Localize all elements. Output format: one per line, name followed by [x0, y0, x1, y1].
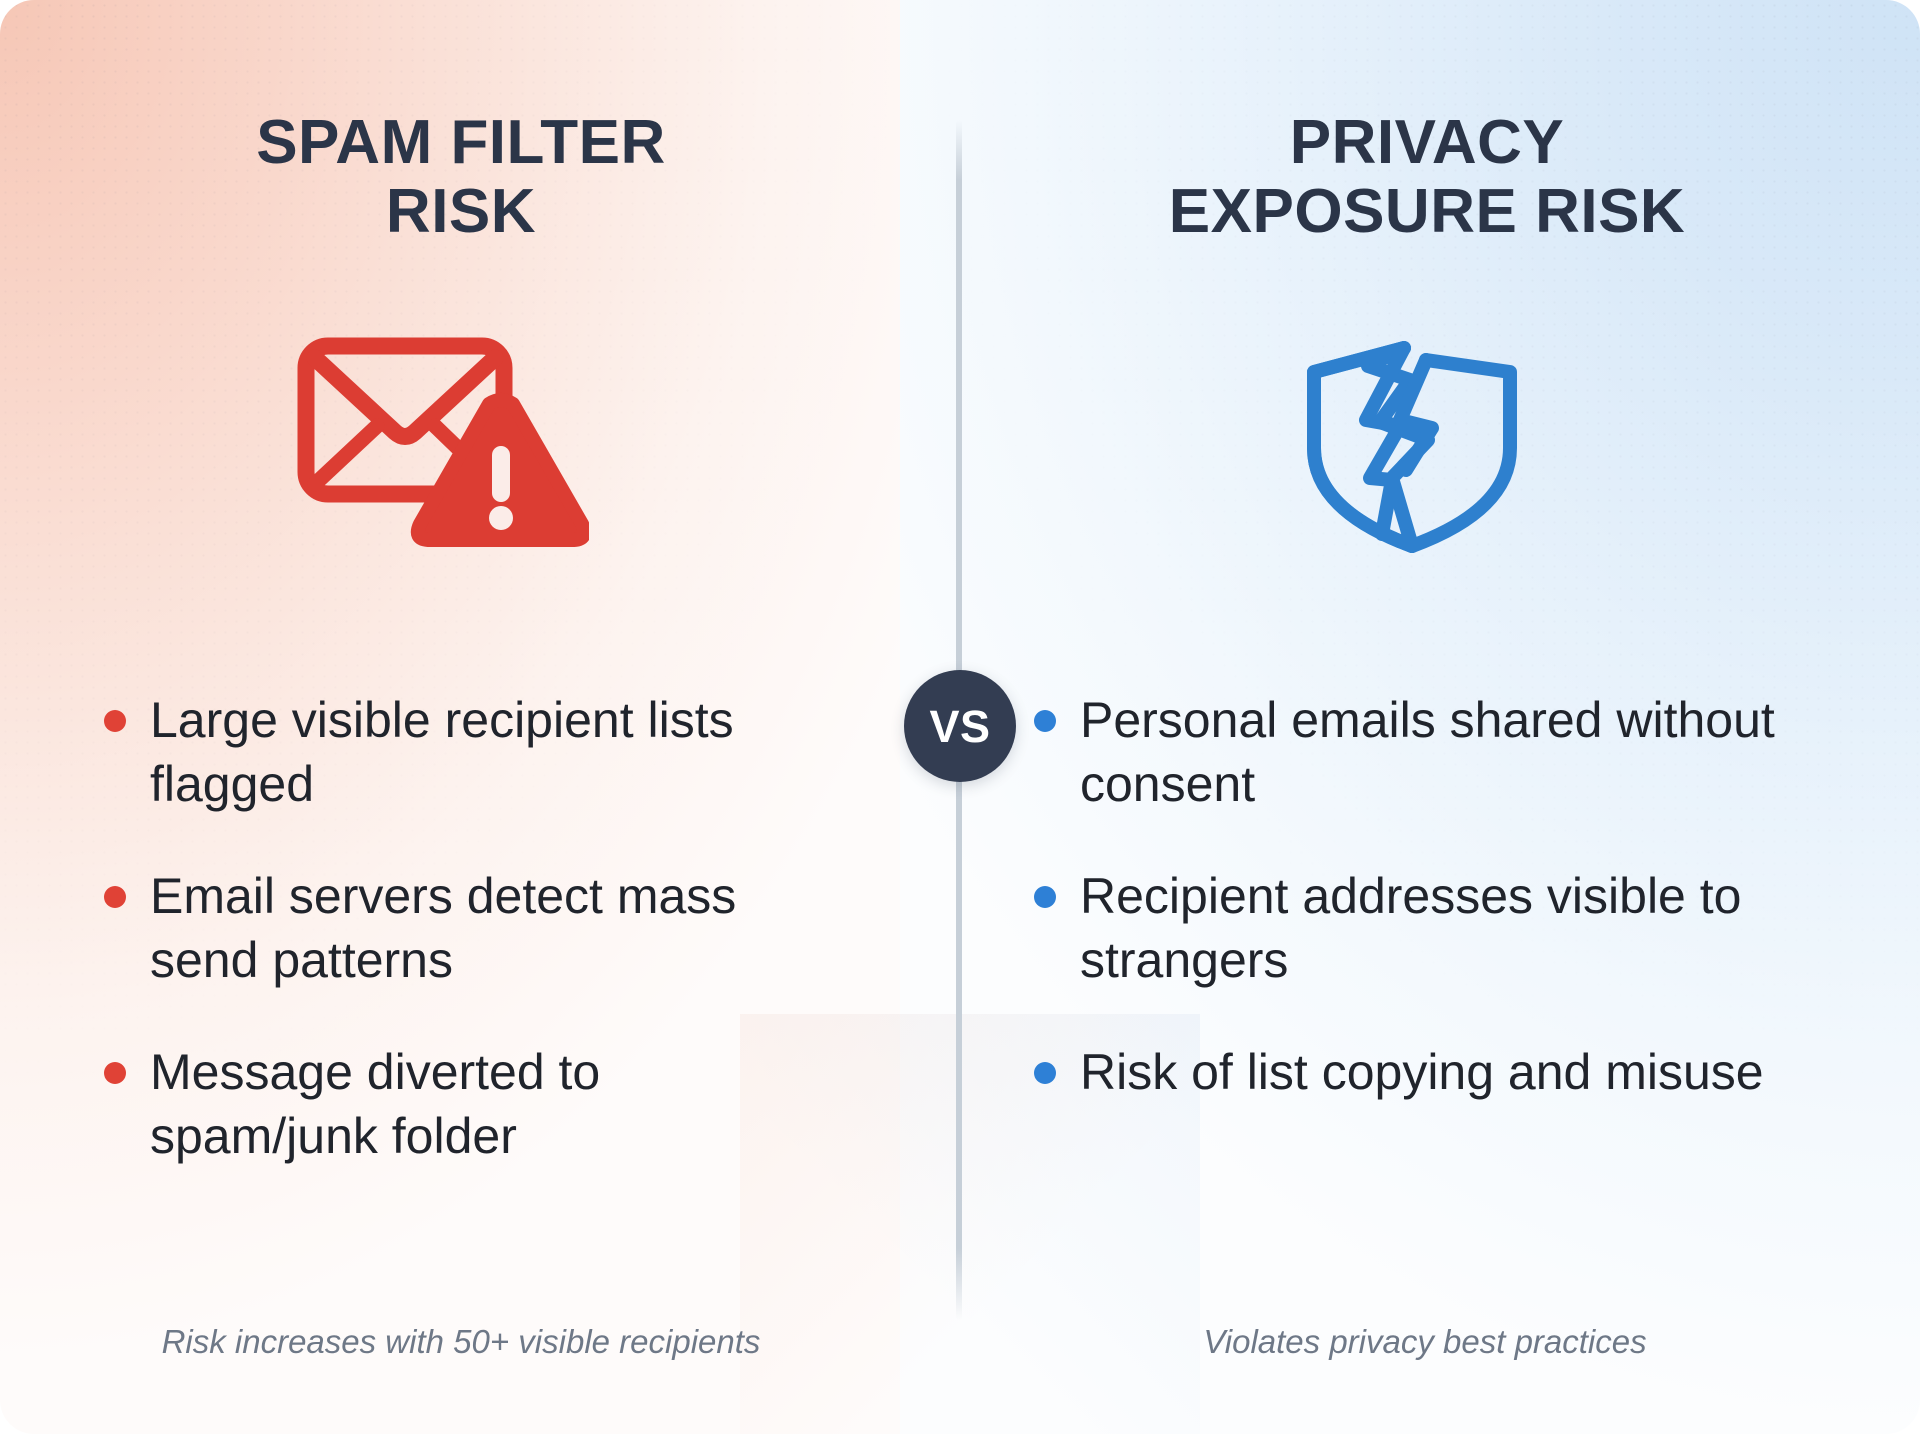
broken-shield-icon — [1300, 328, 1530, 558]
envelope-warning-icon — [289, 328, 589, 558]
bullet-text: Risk of list copying and misuse — [1080, 1044, 1764, 1100]
list-item: Message diverted to spam/junk folder — [96, 1040, 826, 1168]
vs-badge-label: VS — [929, 704, 990, 749]
right-panel-title: PRIVACY EXPOSURE RISK — [900, 108, 1920, 247]
list-item: Large visible recipient lists flagged — [96, 688, 826, 816]
bullet-dot-icon — [1034, 886, 1056, 908]
bullet-text: Email servers detect mass send patterns — [150, 868, 736, 988]
list-item: Recipient addresses visible to strangers — [1026, 864, 1824, 992]
bullet-dot-icon — [1034, 710, 1056, 732]
right-icon-container — [900, 328, 1920, 558]
comparison-infographic: VS SPAM FILTER RISK — [0, 0, 1920, 1434]
left-icon-container — [0, 328, 900, 558]
right-panel: PRIVACY EXPOSURE RISK Personal emails sh… — [900, 0, 1920, 1434]
left-bullet-list: Large visible recipient lists flagged Em… — [96, 688, 826, 1168]
bullet-dot-icon — [1034, 1062, 1056, 1084]
left-panel: SPAM FILTER RISK La — [0, 0, 900, 1434]
bullet-text: Message diverted to spam/junk folder — [150, 1044, 600, 1164]
bullet-dot-icon — [104, 886, 126, 908]
left-footnote: Risk increases with 50+ visible recipien… — [0, 1322, 900, 1362]
left-panel-title: SPAM FILTER RISK — [0, 108, 900, 247]
list-item: Personal emails shared without consent — [1026, 688, 1824, 816]
bullet-text: Recipient addresses visible to strangers — [1080, 868, 1741, 988]
right-footnote: Violates privacy best practices — [900, 1322, 1920, 1362]
bullet-dot-icon — [104, 710, 126, 732]
bullet-text: Personal emails shared without consent — [1080, 692, 1775, 812]
right-bullet-list: Personal emails shared without consent R… — [1026, 688, 1824, 1104]
vs-badge: VS — [904, 670, 1016, 782]
bullet-dot-icon — [104, 1062, 126, 1084]
bullet-text: Large visible recipient lists flagged — [150, 692, 734, 812]
list-item: Email servers detect mass send patterns — [96, 864, 826, 992]
list-item: Risk of list copying and misuse — [1026, 1040, 1824, 1104]
